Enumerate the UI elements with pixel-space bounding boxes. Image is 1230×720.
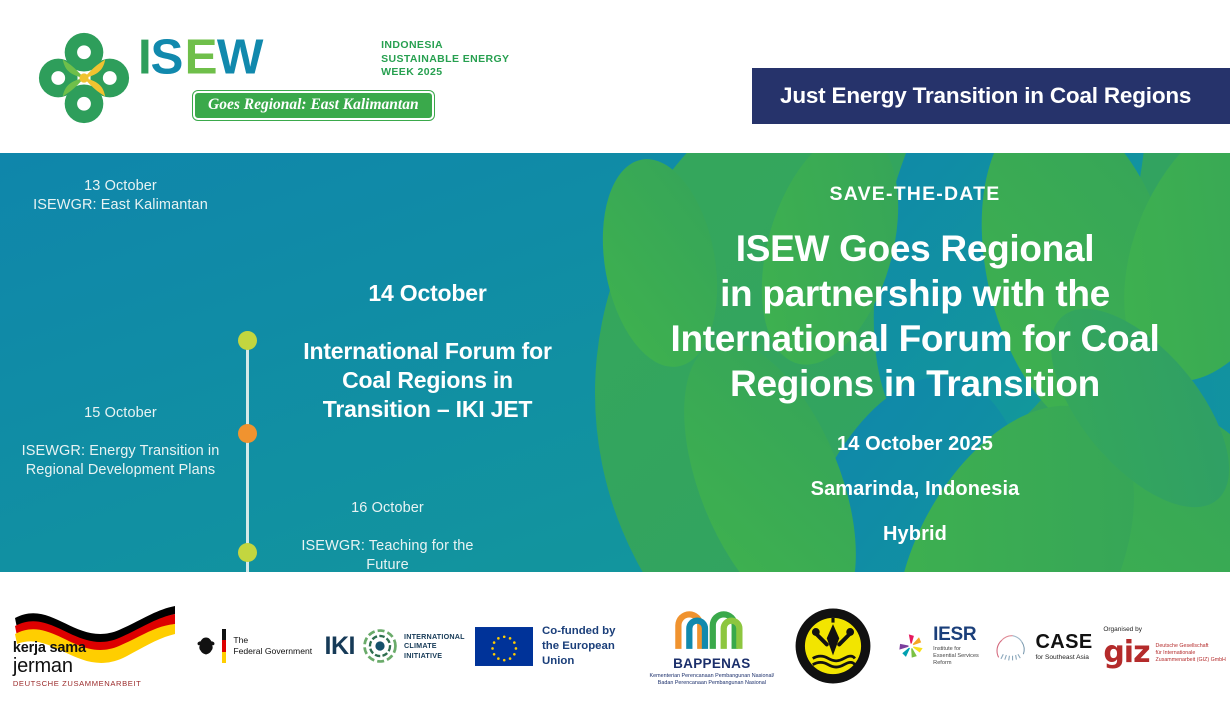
header-banner: Just Energy Transition in Coal Regions: [752, 68, 1230, 124]
federal-government-line2: Federal Government: [233, 646, 312, 657]
bappenas-mark-icon: [669, 605, 755, 652]
federal-government-line1: The: [233, 635, 312, 646]
logo-european-union: Co-funded by the European Union: [475, 572, 644, 720]
timeline-item-14-october-title: International Forum for Coal Regions in …: [270, 337, 585, 424]
timeline-item-13-october-title: ISEWGR: East Kalimantan: [8, 196, 233, 215]
timeline-axis: [246, 341, 249, 572]
eu-text: Co-funded by the European Union: [542, 624, 644, 669]
isew-logo: I S E W INDONESIA SUSTAINABLE ENERGY WEE…: [38, 32, 509, 124]
eu-flag-icon: [475, 626, 533, 667]
kerja-sama-jerman-line1: kerja sama: [13, 640, 86, 656]
federal-government-text: The Federal Government: [233, 635, 312, 657]
goes-regional-badge: Goes Regional: East Kalimantan: [193, 91, 434, 120]
bundesadler-eagle-icon: [196, 636, 216, 656]
save-the-date-block: SAVE-THE-DATE ISEW Goes Regional in part…: [600, 183, 1230, 546]
isew-logo-subtitle: INDONESIA SUSTAINABLE ENERGY WEEK 2025: [381, 36, 509, 80]
timeline-item-13-october: 13 October ISEWGR: East Kalimantan: [8, 177, 233, 215]
save-the-date-title: ISEW Goes Regional in partnership with t…: [600, 226, 1230, 406]
giz-wordmark: giz: [1103, 640, 1149, 666]
logo-esdm: [780, 572, 887, 720]
case-subtitle: for Southeast Asia: [1035, 654, 1092, 661]
iki-subtitle: INTERNATIONAL CLIMATE INITIATIVE: [404, 632, 465, 661]
logo-case: CASE for Southeast Asia: [988, 572, 1099, 720]
timeline-item-15-october-title: ISEWGR: Energy Transition in Regional De…: [8, 442, 233, 480]
save-the-date-location: Samarinda, Indonesia: [600, 478, 1230, 501]
poster-header: I S E W INDONESIA SUSTAINABLE ENERGY WEE…: [0, 0, 1230, 153]
logo-bappenas: BAPPENAS Kementerian Perencanaan Pembang…: [644, 572, 780, 720]
svg-text:S: S: [151, 32, 183, 84]
logo-iesr: IESR Institute for Essential Services Re…: [886, 572, 988, 720]
header-banner-title: Just Energy Transition in Coal Regions: [780, 83, 1191, 109]
timeline-item-16-october-title: ISEWGR: Teaching for the Future: [280, 537, 495, 572]
save-the-date-poster: I S E W INDONESIA SUSTAINABLE ENERGY WEE…: [0, 0, 1230, 720]
bappenas-wordmark: BAPPENAS: [673, 656, 750, 671]
save-the-date-kicker: SAVE-THE-DATE: [600, 183, 1230, 206]
eu-line2: the European Union: [542, 639, 644, 669]
case-sunburst-icon: [994, 631, 1028, 662]
eu-line1: Co-funded by: [542, 624, 644, 639]
svg-text:W: W: [217, 32, 264, 84]
iki-target-icon: [363, 629, 397, 663]
iki-wordmark: IKI: [325, 634, 355, 659]
logo-iki: IKI INTERNATIONAL CLIMATE INITIATIVE: [315, 572, 475, 720]
timeline-dot-13-october: [238, 331, 257, 350]
giz-organised-by-label: Organised by: [1103, 626, 1142, 633]
timeline-item-14-october-date: 14 October: [270, 279, 585, 308]
iesr-subtitle: Institute for Essential Services Reform: [933, 646, 979, 668]
isew-flower-icon: [38, 32, 130, 124]
iesr-pinwheel-icon: [895, 630, 927, 662]
logo-giz: Organised by giz Deutsche Gesellschaft f…: [1099, 572, 1230, 720]
kerja-sama-jerman-line2: jerman: [13, 656, 73, 677]
save-the-date-format: Hybrid: [600, 523, 1230, 546]
kerja-sama-jerman-line3: DEUTSCHE ZUSAMMENARBEIT: [13, 679, 142, 688]
isew-wordmark-icon: I S E W: [138, 32, 371, 84]
timeline-item-15-october: 15 October ISEWGR: Energy Transition in …: [8, 385, 233, 499]
poster-main-band: 13 October ISEWGR: East Kalimantan 14 Oc…: [0, 153, 1230, 572]
logo-kerja-sama-jerman: kerja sama jerman DEUTSCHE ZUSAMMENARBEI…: [0, 572, 194, 720]
timeline-item-16-october: 16 October ISEWGR: Teaching for the Futu…: [280, 480, 495, 572]
case-wordmark: CASE: [1035, 632, 1092, 652]
timeline-item-13-october-date: 13 October: [8, 177, 233, 196]
german-flag-bar-icon: [222, 629, 226, 663]
partner-logo-strip: kerja sama jerman DEUTSCHE ZUSAMMENARBEI…: [0, 572, 1230, 720]
giz-subtitle: Deutsche Gesellschaft für Internationale…: [1156, 643, 1226, 664]
svg-text:I: I: [138, 32, 151, 84]
timeline-dot-15-october: [238, 543, 257, 562]
timeline-item-16-october-date: 16 October: [280, 499, 495, 518]
timeline-item-15-october-date: 15 October: [8, 404, 233, 423]
logo-the-federal-government: The Federal Government: [194, 572, 315, 720]
svg-text:E: E: [185, 32, 217, 84]
iesr-wordmark: IESR: [933, 625, 979, 644]
bappenas-subtitle: Kementerian Perencanaan Pembangunan Nasi…: [650, 673, 775, 687]
esdm-emblem-icon: [794, 607, 872, 685]
timeline-item-14-october: 14 October International Forum for Coal …: [270, 250, 585, 453]
timeline-dot-14-october: [238, 424, 257, 443]
poster-footer: kerja sama jerman DEUTSCHE ZUSAMMENARBEI…: [0, 572, 1230, 720]
save-the-date-date: 14 October 2025: [600, 433, 1230, 456]
